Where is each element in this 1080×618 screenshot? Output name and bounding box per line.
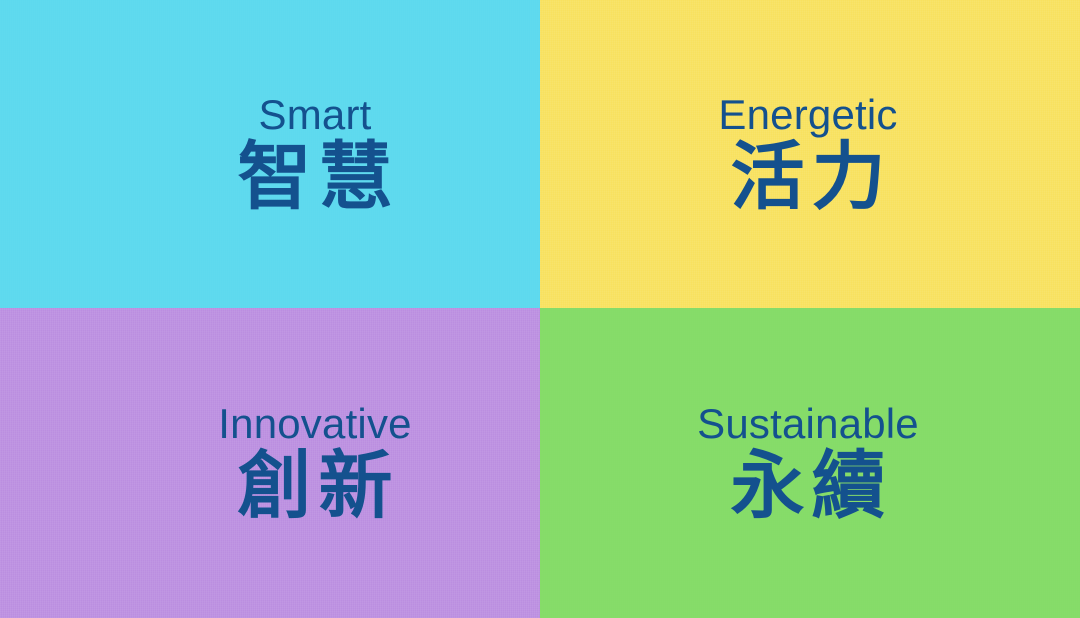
quadrant-sustainable-text: Sustainable 永續 xyxy=(697,403,919,523)
quadrant-energetic: Energetic 活力 xyxy=(540,0,1080,308)
quadrant-innovative: Innovative 創新 xyxy=(0,308,540,618)
quadrant-smart: Smart 智慧 xyxy=(0,0,540,308)
quadrant-energetic-text: Energetic 活力 xyxy=(718,94,897,214)
quadrant-innovative-label-en: Innovative xyxy=(218,403,411,445)
quadrant-energetic-label-en: Energetic xyxy=(718,94,897,136)
quadrant-innovative-text: Innovative 創新 xyxy=(218,403,411,523)
quadrant-sustainable-label-zh: 永續 xyxy=(723,449,892,523)
quadrant-smart-text: Smart 智慧 xyxy=(231,94,400,214)
quadrant-smart-label-en: Smart xyxy=(258,94,371,136)
quadrant-sustainable: Sustainable 永續 xyxy=(540,308,1080,618)
brand-values-poster: Smart 智慧 Energetic 活力 Innovative 創新 Sust… xyxy=(0,0,1080,618)
quadrant-smart-label-zh: 智慧 xyxy=(231,140,400,214)
quadrant-innovative-label-zh: 創新 xyxy=(231,449,400,523)
quadrant-energetic-label-zh: 活力 xyxy=(723,140,892,214)
quadrant-sustainable-label-en: Sustainable xyxy=(697,403,919,445)
